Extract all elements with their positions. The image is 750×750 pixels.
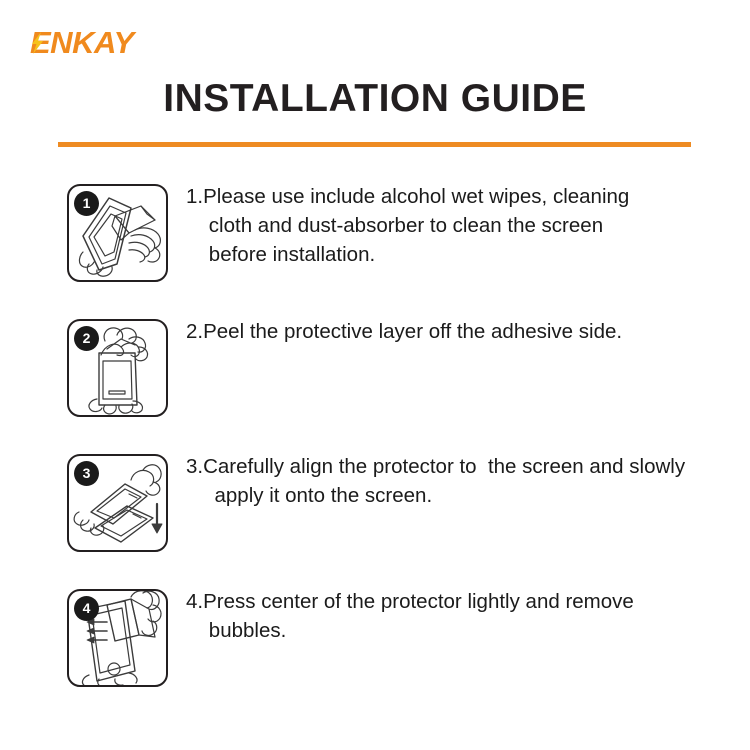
lightning-spark-icon [30,32,44,54]
steps-list: 1 1.Please use include alcohol wet wipes… [0,178,750,718]
list-item: 3 3.Carefully align the protector to the… [0,448,750,583]
step-text: 2.Peel the protective layer off the adhe… [186,317,706,346]
title-divider-rule [58,142,691,147]
list-item: 2 2.Peel the protective layer off the ad… [0,313,750,448]
step-badge: 1 [74,191,99,216]
step-badge: 3 [74,461,99,486]
list-item: 4 4.Press center of the protector lightl… [0,583,750,718]
list-item: 1 1.Please use include alcohol wet wipes… [0,178,750,313]
page-title: INSTALLATION GUIDE [0,76,750,122]
step-badge: 4 [74,596,99,621]
step-text: 4.Press center of the protector lightly … [186,587,706,645]
step-badge: 2 [74,326,99,351]
page-title-block: INSTALLATION GUIDE [0,76,750,122]
brand-logo-text: ENKAY [30,24,230,62]
step-text: 1.Please use include alcohol wet wipes, … [186,182,706,269]
brand-logo: ENKAY [30,24,230,64]
step-text: 3.Carefully align the protector to the s… [186,452,706,510]
